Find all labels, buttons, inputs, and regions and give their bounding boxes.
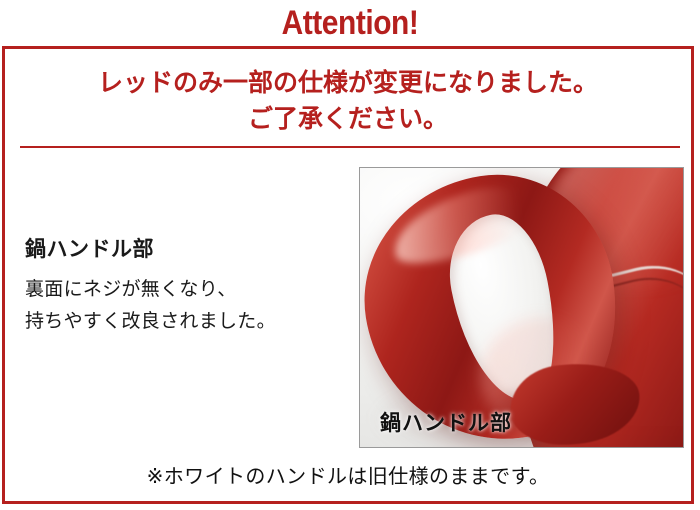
- handle-description-heading: 鍋ハンドル部: [25, 235, 355, 263]
- photo-caption: 鍋ハンドル部: [380, 407, 512, 437]
- handle-photo: 鍋ハンドル部: [359, 167, 684, 448]
- handle-description-line2: 持ちやすく改良されました。: [25, 305, 355, 337]
- handle-description-line1: 裏面にネジが無くなり、: [25, 273, 355, 305]
- notice-frame: レッドのみ一部の仕様が変更になりました。 ご了承ください。 鍋ハンドル部 裏面に…: [2, 46, 694, 504]
- photo-background: [360, 168, 683, 447]
- footnote-text: ※ホワイトのハンドルは旧仕様のままです。: [5, 460, 691, 489]
- handle-description-body: 裏面にネジが無くなり、 持ちやすく改良されました。: [25, 273, 355, 337]
- page-title: Attention!: [42, 0, 658, 47]
- notice-heading: レッドのみ一部の仕様が変更になりました。 ご了承ください。: [5, 65, 691, 137]
- notice-heading-line2: ご了承ください。: [5, 101, 691, 137]
- handle-description-block: 鍋ハンドル部 裏面にネジが無くなり、 持ちやすく改良されました。: [25, 235, 355, 337]
- horizontal-divider: [20, 146, 680, 148]
- notice-heading-line1: レッドのみ一部の仕様が変更になりました。: [98, 68, 598, 97]
